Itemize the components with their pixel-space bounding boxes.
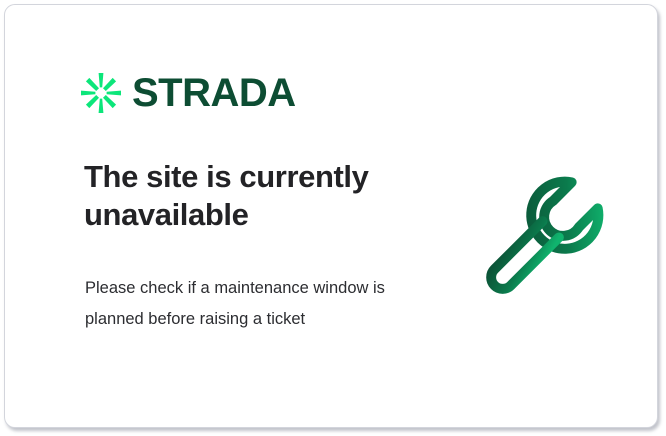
brand-lockup: STRADA <box>81 73 296 113</box>
maintenance-notice-card: STRADA The site is currently unavailable… <box>4 4 658 428</box>
brand-wordmark: STRADA <box>132 73 296 113</box>
page-title: The site is currently unavailable <box>84 158 424 234</box>
strada-asterisk-icon <box>81 73 121 113</box>
page-description: Please check if a maintenance window is … <box>85 273 395 335</box>
